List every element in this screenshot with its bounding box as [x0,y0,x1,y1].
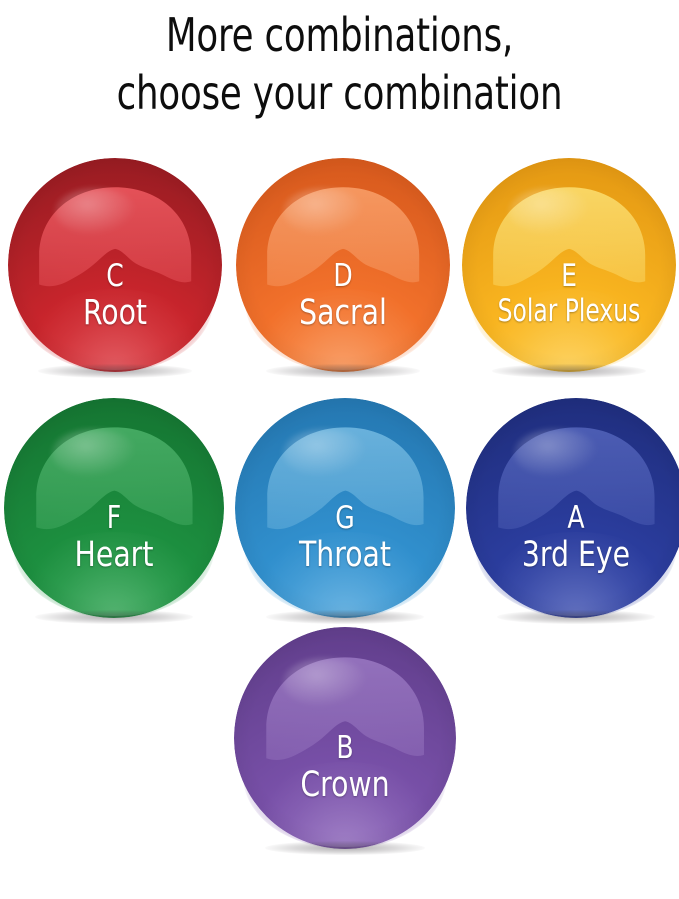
chakra-sphere-sacral[interactable]: DSacral [236,158,450,372]
title-line-1: More combinations, [48,6,632,64]
sphere-ball [462,158,676,372]
sphere-body [462,158,676,372]
sphere-body [466,398,679,618]
chakra-sphere-crown[interactable]: BCrown [234,627,456,849]
sphere-body [8,158,222,372]
poster-canvas: More combinations, choose your combinati… [0,0,679,899]
chakra-sphere-root[interactable]: CRoot [8,158,222,372]
chakra-sphere-third-eye[interactable]: A3rd Eye [466,398,679,618]
title-line-2: choose your combination [48,64,632,122]
sphere-ball [466,398,679,618]
sphere-body [236,158,450,372]
sphere-body [234,627,456,849]
sphere-ball [8,158,222,372]
sphere-ball [235,398,455,618]
sphere-ball [236,158,450,372]
sphere-body [4,398,224,618]
page-title: More combinations, choose your combinati… [48,0,632,122]
chakra-sphere-heart[interactable]: FHeart [4,398,224,618]
chakra-sphere-throat[interactable]: GThroat [235,398,455,618]
sphere-body [235,398,455,618]
sphere-ball [4,398,224,618]
chakra-sphere-solar-plexus[interactable]: ESolar Plexus [462,158,676,372]
sphere-ball [234,627,456,849]
